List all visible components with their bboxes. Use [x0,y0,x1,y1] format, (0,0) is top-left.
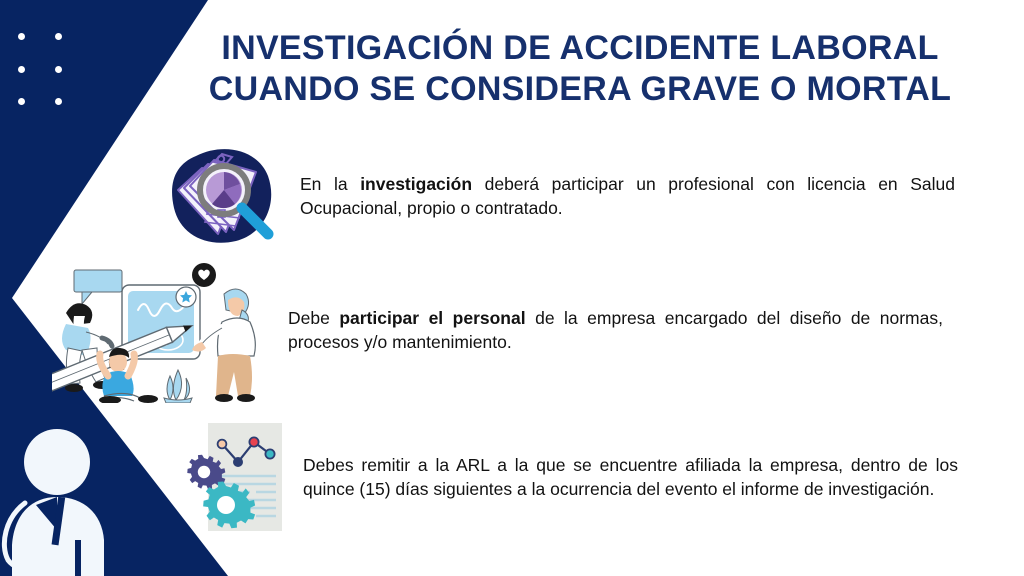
title-line-1: INVESTIGACIÓN DE ACCIDENTE LABORAL [150,28,1010,69]
slide-canvas: INVESTIGACIÓN DE ACCIDENTE LABORAL CUAND… [0,0,1024,576]
title-line-2: CUANDO SE CONSIDERA GRAVE O MORTAL [150,69,1010,110]
slide-title: INVESTIGACIÓN DE ACCIDENTE LABORAL CUAND… [150,28,1010,111]
team-collaboration-illustration [52,258,270,403]
item-2-text: Debe participar el personal de la empres… [288,307,943,354]
item-3-text: Debes remitir a la ARL a la que se encue… [303,454,958,501]
content-row-1: En la investigación deberá participar un… [162,142,955,252]
item-1-text: En la investigación deberá participar un… [300,173,955,220]
content-row-3: Debes remitir a la ARL a la que se encue… [180,420,958,535]
report-document-gears-illustration [180,420,285,535]
content-row-2: Debe participar el personal de la empres… [52,258,943,403]
clipboard-magnifier-pie-chart-illustration [162,142,282,252]
